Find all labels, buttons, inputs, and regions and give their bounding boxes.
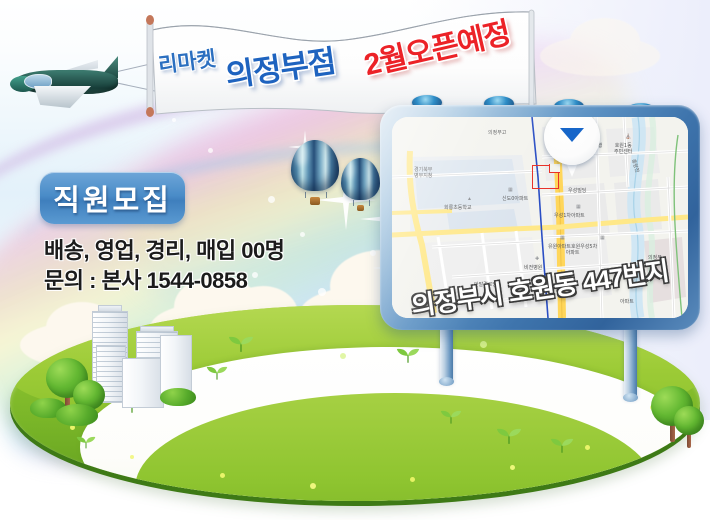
map-pin-icon[interactable] [544, 117, 600, 183]
recruit-positions-line: 배송, 영업, 경리, 매입 00명 [44, 236, 284, 266]
apartment-marker-icon: ▦ [576, 204, 581, 210]
billboard-screen: 의정부고 경기북부병무지청 회룡초등학교 ▲ 신도0아파트 ▦ 우성빌딩 우성1… [392, 117, 688, 318]
apartment-marker-icon: ▦ [508, 187, 513, 193]
billboard-leg-right [624, 320, 637, 398]
center-marker-icon: ⛪ [625, 134, 631, 140]
airplane-icon [8, 52, 128, 110]
map-label: 우성1차아파트 [554, 213, 585, 219]
bush-icon [56, 404, 98, 426]
map-label: 회룡초등학교 [444, 205, 472, 211]
apartment-marker-icon: ▦ [600, 235, 605, 241]
grass-speck [340, 353, 346, 359]
hot-air-balloon-icon [291, 140, 339, 206]
sprout-icon [76, 435, 96, 449]
map-label: 아파트 [620, 299, 634, 305]
grass-speck [220, 473, 225, 478]
recruit-badge-label: 직원모집 [53, 177, 172, 219]
grass-speck [510, 465, 515, 470]
map-label: 신도0아파트 [502, 196, 528, 202]
grass-speck [410, 477, 415, 482]
hospital-marker-icon: ✚ [535, 256, 539, 262]
billboard[interactable]: 의정부고 경기북부병무지청 회룡초등학교 ▲ 신도0아파트 ▦ 우성빌딩 우성1… [380, 105, 700, 330]
sprout-icon [496, 427, 522, 444]
map-label: 우성빌딩 [568, 188, 586, 194]
sprout-icon [396, 347, 420, 363]
grass-speck [585, 445, 590, 450]
banner-store-text: 의정부점 [222, 36, 337, 96]
recruit-contact-line: 문의 : 본사 1544-0858 [44, 266, 284, 296]
school-marker-icon: ▲ [467, 196, 472, 202]
sparkle-dot [300, 232, 305, 237]
sparkle-dot [268, 196, 275, 203]
sparkle-dot [172, 118, 176, 122]
sprout-icon [206, 365, 228, 380]
billboard-leg-foot [439, 377, 454, 386]
hot-air-balloon-icon [341, 158, 380, 212]
map-label: 경기북부병무지청 [414, 167, 432, 179]
grass-speck [130, 455, 134, 459]
sprout-icon [440, 409, 462, 424]
poster-canvas: 리마켓 의정부점 2월오픈예정 직원모집 배송, 영업, 경리, 매입 00명 … [0, 0, 710, 520]
banner-brand-text: 리마켓 [156, 43, 217, 80]
bush-icon [160, 388, 196, 406]
banner-opening-text: 2월오픈예정 [359, 8, 514, 84]
map-label: 유원아파트호원우성5차아파트 [548, 244, 597, 256]
city-building-icon [122, 358, 164, 408]
map-label: 의정부고 [488, 130, 506, 136]
map-label: 호원1동주민센터 [614, 143, 632, 155]
sparkle-dot [370, 250, 376, 256]
tree-icon [673, 406, 705, 450]
grass-speck [480, 341, 487, 348]
recruit-badge: 직원모집 [40, 172, 185, 224]
billboard-leg-foot [623, 393, 638, 402]
apartment-marker-icon: ▦ [560, 235, 565, 241]
grass-speck [310, 483, 316, 489]
sparkle-dot [318, 288, 326, 296]
sparkle-dot [208, 148, 213, 153]
sprout-icon [228, 335, 254, 352]
sprout-icon [658, 343, 684, 360]
sprout-icon [550, 437, 574, 453]
recruit-details: 배송, 영업, 경리, 매입 00명 문의 : 본사 1544-0858 [44, 236, 284, 296]
